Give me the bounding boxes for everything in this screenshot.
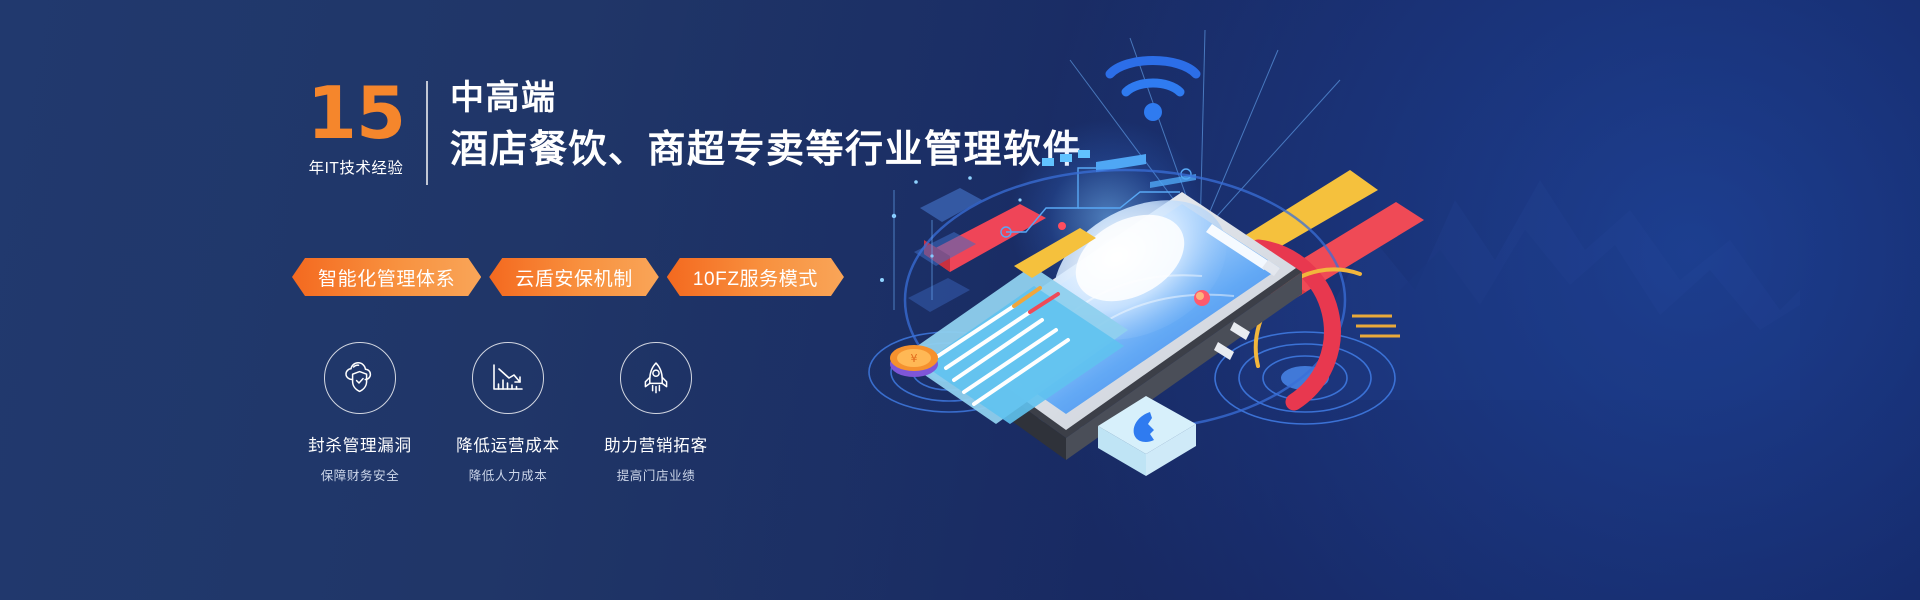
rocket-icon (637, 359, 675, 397)
vertical-divider (426, 81, 428, 185)
sparkle-decor (870, 160, 1070, 390)
feature-tag-list: 智能化管理体系 云盾安保机制 10FZ服务模式 (292, 258, 844, 296)
feature-tag-2[interactable]: 云盾安保机制 (489, 258, 659, 296)
feature-tag-2-label: 云盾安保机制 (515, 264, 633, 291)
feature-item-cost[interactable]: 降低运营成本 降低人力成本 (434, 342, 582, 484)
feature-item-cost-title: 降低运营成本 (456, 432, 560, 456)
years-caption: 年IT技术经验 (309, 156, 404, 178)
isometric-smartphone-illustration: 50% (830, 0, 1920, 600)
feature-item-marketing[interactable]: 助力营销拓客 提高门店业绩 (582, 342, 730, 484)
feature-list: 封杀管理漏洞 保障财务安全 (286, 342, 730, 484)
feature-item-marketing-title: 助力营销拓客 (604, 432, 708, 456)
feature-item-cost-subtitle: 降低人力成本 (469, 465, 548, 484)
feature-item-security-title: 封杀管理漏洞 (308, 432, 412, 456)
feature-icon-circle (324, 342, 396, 414)
feature-item-marketing-subtitle: 提高门店业绩 (617, 465, 696, 484)
feature-tag-1-label: 智能化管理体系 (318, 264, 455, 291)
cloud-shield-check-icon (340, 359, 380, 397)
years-badge: 15 年IT技术经验 (300, 78, 412, 185)
declining-bar-chart-icon (489, 360, 527, 396)
phone-call-card-icon (1092, 390, 1202, 490)
feature-item-security[interactable]: 封杀管理漏洞 保障财务安全 (286, 342, 434, 484)
years-number: 15 (307, 78, 405, 149)
feature-tag-3[interactable]: 10FZ服务模式 (667, 258, 844, 296)
feature-icon-circle (620, 342, 692, 414)
wifi-signal-icon (1098, 40, 1208, 130)
feature-tag-1[interactable]: 智能化管理体系 (292, 258, 481, 296)
feature-tag-3-label: 10FZ服务模式 (693, 264, 818, 291)
feature-item-security-subtitle: 保障财务安全 (321, 465, 400, 484)
hero-banner: 15 年IT技术经验 中高端 酒店餐饮、商超专卖等行业管理软件 智能化管理体系 … (0, 0, 1920, 600)
feature-icon-circle (472, 342, 544, 414)
